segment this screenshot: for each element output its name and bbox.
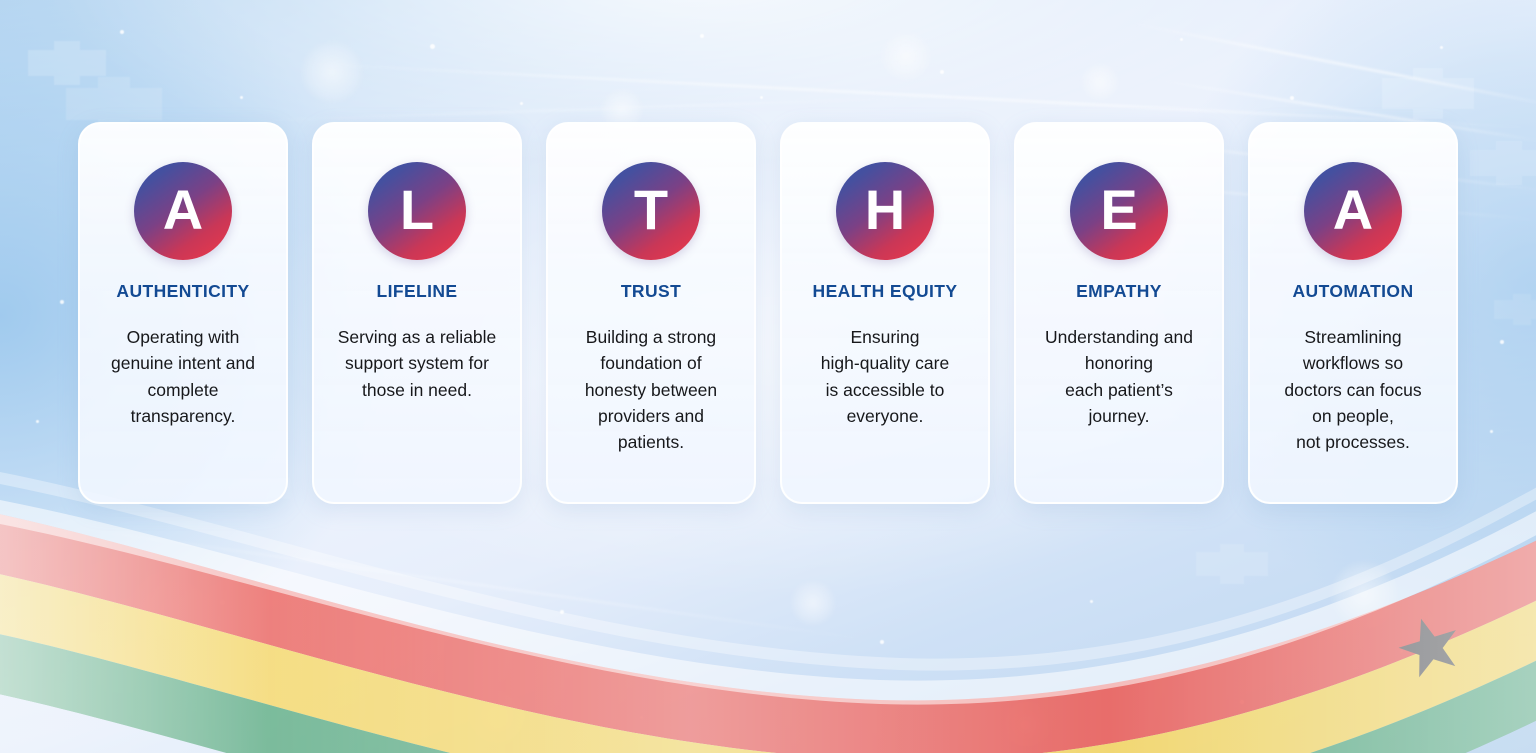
particle (120, 30, 124, 34)
card-title: TRUST (621, 281, 681, 302)
card-title: AUTOMATION (1293, 281, 1414, 302)
bokeh (790, 580, 836, 626)
ghana-star-icon (1392, 610, 1466, 681)
values-card-row: A AUTHENTICITY Operating with genuine in… (78, 122, 1458, 504)
light-streak (60, 525, 872, 641)
values-infographic: A AUTHENTICITY Operating with genuine in… (0, 0, 1536, 753)
particle (760, 96, 763, 99)
card-title: LIFELINE (377, 281, 458, 302)
badge-letter: H (865, 182, 905, 238)
particle (330, 660, 333, 663)
letter-badge-t: T (602, 162, 700, 260)
particle (940, 70, 944, 74)
bokeh (1000, 700, 1050, 750)
particle (640, 716, 643, 719)
badge-letter: E (1100, 182, 1137, 238)
value-card-lifeline[interactable]: L LIFELINE Serving as a reliable support… (312, 122, 522, 504)
medical-cross-icon (84, 660, 158, 685)
particle (560, 610, 564, 614)
letter-badge-e: E (1070, 162, 1168, 260)
medical-cross-icon (1382, 78, 1474, 109)
card-description: Streamlining workflows so doctors can fo… (1284, 324, 1421, 455)
medical-cross-icon (392, 636, 442, 653)
card-description: Understanding and honoring each patient’… (1045, 324, 1193, 429)
particle (220, 600, 225, 605)
light-streak (300, 62, 1536, 129)
value-card-authenticity[interactable]: A AUTHENTICITY Operating with genuine in… (78, 122, 288, 504)
particle (1290, 96, 1294, 100)
particle (520, 102, 523, 105)
particle (1090, 600, 1093, 603)
medical-cross-icon (196, 640, 256, 660)
medical-cross-icon (1196, 552, 1268, 576)
card-description: Operating with genuine intent and comple… (111, 324, 255, 429)
particle (1180, 38, 1183, 41)
badge-letter: L (400, 182, 434, 238)
particle (700, 34, 704, 38)
bokeh (880, 30, 932, 82)
value-card-health-equity[interactable]: H HEALTH EQUITY Ensuring high-quality ca… (780, 122, 990, 504)
bokeh (130, 570, 206, 646)
letter-badge-a2: A (1304, 162, 1402, 260)
light-streak (1130, 22, 1536, 108)
value-card-empathy[interactable]: E EMPATHY Understanding and honoring eac… (1014, 122, 1224, 504)
particle (1240, 700, 1244, 704)
medical-cross-icon (1494, 300, 1536, 319)
card-description: Building a strong foundation of honesty … (585, 324, 717, 455)
card-description: Ensuring high-quality care is accessible… (821, 324, 949, 429)
medical-cross-icon (28, 50, 106, 76)
particle (880, 640, 884, 644)
particle (1440, 46, 1443, 49)
badge-letter: A (1333, 182, 1373, 238)
bokeh (470, 690, 526, 746)
card-title: HEALTH EQUITY (813, 281, 958, 302)
light-streak (250, 96, 950, 122)
card-title: EMPATHY (1076, 281, 1162, 302)
bokeh (300, 40, 364, 104)
letter-badge-l: L (368, 162, 466, 260)
particle (60, 300, 64, 304)
card-title: AUTHENTICITY (116, 281, 249, 302)
card-description: Serving as a reliable support system for… (338, 324, 497, 403)
particle (36, 420, 39, 423)
badge-letter: A (163, 182, 203, 238)
letter-badge-h: H (836, 162, 934, 260)
bokeh (1080, 62, 1120, 102)
badge-letter: T (634, 182, 668, 238)
value-card-automation[interactable]: A AUTOMATION Streamlining workflows so d… (1248, 122, 1458, 504)
particle (1490, 430, 1493, 433)
bokeh (1330, 560, 1398, 628)
particle (1400, 650, 1403, 653)
medical-cross-icon (1470, 150, 1536, 176)
value-card-trust[interactable]: T TRUST Building a strong foundation of … (546, 122, 756, 504)
particle (240, 96, 243, 99)
letter-badge-a: A (134, 162, 232, 260)
particle (430, 44, 435, 49)
medical-cross-icon (66, 88, 162, 120)
particle (1500, 340, 1504, 344)
